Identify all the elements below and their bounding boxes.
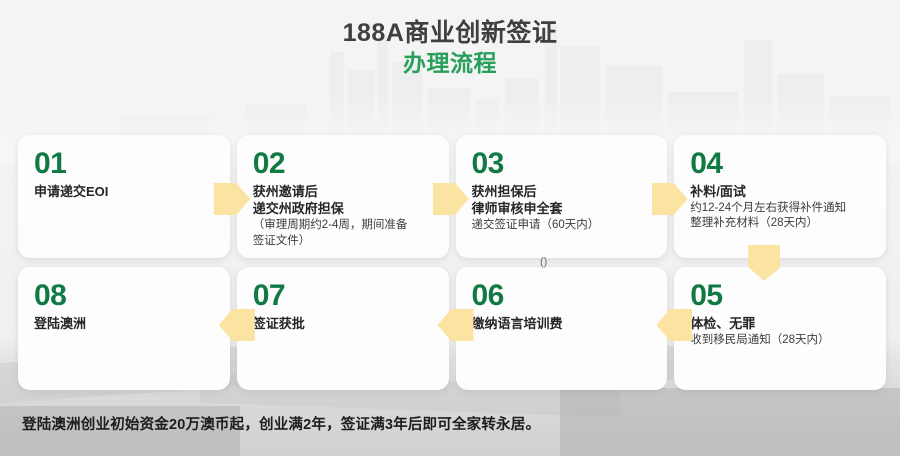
process-flow: 01 申请递交EOI 02 获州邀请后 递交州政府担保 （审理周期约2-4周，期… bbox=[18, 135, 886, 390]
flow-card-subtext: （审理周期约2-4周，期间准备 签证文件） bbox=[253, 218, 435, 249]
flow-card-heading: 获州担保后 律师审核申全套 bbox=[472, 183, 654, 217]
flow-card-06[interactable]: 06 缴纳语言培训费 bbox=[456, 267, 668, 390]
flow-card-number: 08 bbox=[34, 281, 216, 312]
flow-row-bottom: 08 登陆澳洲 07 签证获批 06 缴纳语言培训费 05 体检、无罪 收到移民… bbox=[18, 267, 886, 390]
page-title: 188A商业创新签证 bbox=[0, 18, 900, 48]
flow-card-subtext: 收到移民局通知（28天内） bbox=[690, 333, 872, 349]
flow-card-02[interactable]: 02 获州邀请后 递交州政府担保 （审理周期约2-4周，期间准备 签证文件） bbox=[237, 135, 449, 258]
flow-card-number: 07 bbox=[253, 281, 435, 312]
flow-card-heading: 获州邀请后 递交州政府担保 bbox=[253, 183, 435, 217]
footer-note: 登陆澳洲创业初始资金20万澳币起，创业满2年，签证满3年后即可全家转永居。 bbox=[22, 413, 540, 434]
page-header: 188A商业创新签证 办理流程 bbox=[0, 18, 900, 79]
stray-paren-artifact: () bbox=[540, 256, 547, 268]
flow-card-number: 06 bbox=[472, 281, 654, 312]
flow-card-04[interactable]: 04 补料/面试 约12-24个月左右获得补件通知 整理补充材料（28天内） bbox=[674, 135, 886, 258]
flow-card-number: 01 bbox=[34, 149, 216, 180]
flow-card-03[interactable]: 03 获州担保后 律师审核申全套 递交签证申请（60天内） bbox=[456, 135, 668, 258]
flow-row-top: 01 申请递交EOI 02 获州邀请后 递交州政府担保 （审理周期约2-4周，期… bbox=[18, 135, 886, 258]
flow-card-subtext: 约12-24个月左右获得补件通知 整理补充材料（28天内） bbox=[690, 201, 872, 232]
flow-card-07[interactable]: 07 签证获批 bbox=[237, 267, 449, 390]
flow-card-05[interactable]: 05 体检、无罪 收到移民局通知（28天内） bbox=[674, 267, 886, 390]
flow-card-number: 04 bbox=[690, 149, 872, 180]
flow-card-heading: 体检、无罪 bbox=[690, 315, 872, 332]
flow-card-number: 05 bbox=[690, 281, 872, 312]
flow-card-number: 02 bbox=[253, 149, 435, 180]
flow-card-heading: 申请递交EOI bbox=[34, 183, 216, 200]
flow-card-heading: 登陆澳洲 bbox=[34, 315, 216, 332]
flow-card-heading: 签证获批 bbox=[253, 315, 435, 332]
flow-card-01[interactable]: 01 申请递交EOI bbox=[18, 135, 230, 258]
page-subtitle: 办理流程 bbox=[0, 48, 900, 79]
photo-shape bbox=[560, 388, 900, 456]
flow-card-heading: 缴纳语言培训费 bbox=[472, 315, 654, 332]
flow-card-heading: 补料/面试 bbox=[690, 183, 872, 200]
flow-card-number: 03 bbox=[472, 149, 654, 180]
flow-card-08[interactable]: 08 登陆澳洲 bbox=[18, 267, 230, 390]
flow-card-subtext: 递交签证申请（60天内） bbox=[472, 218, 654, 234]
